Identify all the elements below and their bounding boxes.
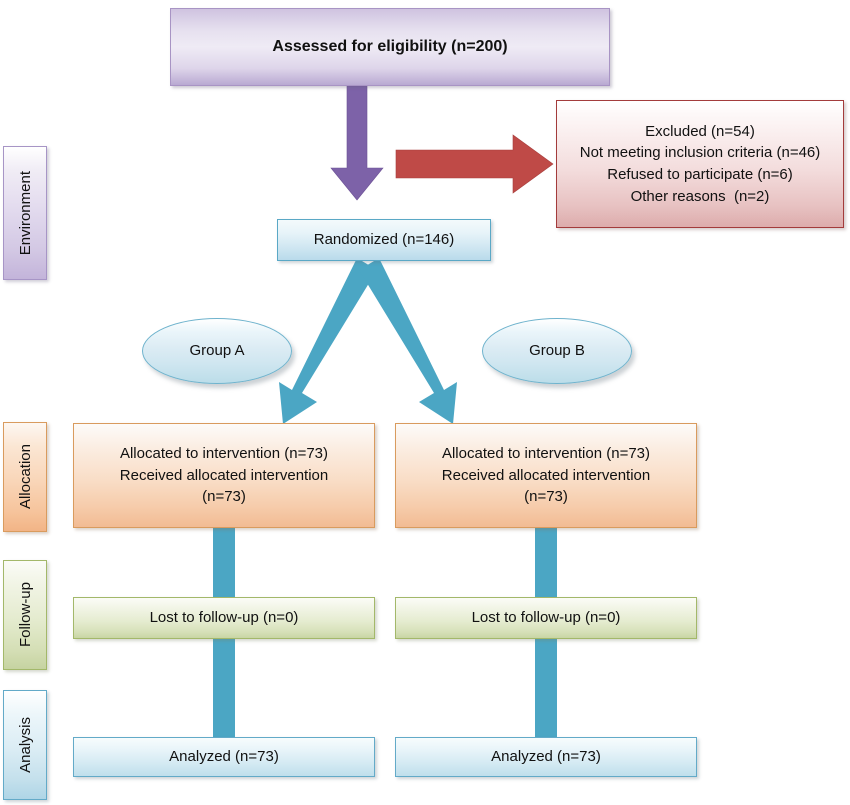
node-text-line: (n=73) (402, 486, 690, 508)
node-group-a-text: Group A (143, 340, 291, 362)
node-text-line: Lost to follow-up (n=0) (80, 607, 368, 629)
node-group-b-text: Group B (483, 340, 631, 362)
node-group-b: Group B (482, 318, 632, 384)
purple-down-arrow (331, 86, 383, 200)
node-assessed-for-eligibility-text: Assessed for eligibility (n=200) (171, 35, 609, 58)
stage-label-environment-text: Environment (17, 171, 34, 255)
node-text-line: Analyzed (n=73) (80, 746, 368, 768)
teal-branch-arrow-right (359, 258, 457, 424)
node-assessed-for-eligibility: Assessed for eligibility (n=200) (170, 8, 610, 86)
node-analysis-right-text: Analyzed (n=73) (396, 746, 696, 768)
node-text-line: Lost to follow-up (n=0) (402, 607, 690, 629)
node-allocation-right-text: Allocated to intervention (n=73)Received… (396, 443, 696, 508)
node-text-line: Assessed for eligibility (n=200) (177, 35, 603, 58)
node-allocation-left: Allocated to intervention (n=73)Received… (73, 423, 375, 528)
node-followup-left: Lost to follow-up (n=0) (73, 597, 375, 639)
node-analysis-right: Analyzed (n=73) (395, 737, 697, 777)
node-text-line: Other reasons (n=2) (563, 186, 837, 208)
node-excluded-text: Excluded (n=54)Not meeting inclusion cri… (557, 121, 843, 208)
node-group-a: Group A (142, 318, 292, 384)
teal-branch-arrow-left (279, 258, 377, 424)
node-excluded: Excluded (n=54)Not meeting inclusion cri… (556, 100, 844, 228)
node-randomized-text: Randomized (n=146) (278, 229, 490, 251)
stage-label-allocation: Allocation (3, 422, 47, 532)
red-right-arrow (396, 135, 553, 193)
node-analysis-left: Analyzed (n=73) (73, 737, 375, 777)
node-text-line: (n=73) (80, 486, 368, 508)
node-text-line: Received allocated intervention (402, 465, 690, 487)
node-text-line: Allocated to intervention (n=73) (80, 443, 368, 465)
node-analysis-left-text: Analyzed (n=73) (74, 746, 374, 768)
node-followup-right-text: Lost to follow-up (n=0) (396, 607, 696, 629)
node-text-line: Allocated to intervention (n=73) (402, 443, 690, 465)
node-allocation-right: Allocated to intervention (n=73)Received… (395, 423, 697, 528)
consort-flow-diagram: Environment Allocation Follow-up Analysi… (0, 0, 850, 805)
node-text-line: Refused to participate (n=6) (563, 164, 837, 186)
stage-label-analysis: Analysis (3, 690, 47, 800)
stage-label-followup-text: Follow-up (17, 582, 34, 647)
stage-label-followup: Follow-up (3, 560, 47, 670)
node-allocation-left-text: Allocated to intervention (n=73)Received… (74, 443, 374, 508)
node-text-line: Analyzed (n=73) (402, 746, 690, 768)
node-text-line: Group B (489, 340, 625, 362)
node-followup-left-text: Lost to follow-up (n=0) (74, 607, 374, 629)
node-randomized: Randomized (n=146) (277, 219, 491, 261)
node-text-line: Group A (149, 340, 285, 362)
node-text-line: Received allocated intervention (80, 465, 368, 487)
node-text-line: Randomized (n=146) (284, 229, 484, 251)
node-text-line: Excluded (n=54) (563, 121, 837, 143)
stage-label-environment: Environment (3, 146, 47, 280)
stage-label-allocation-text: Allocation (17, 444, 34, 509)
node-text-line: Not meeting inclusion criteria (n=46) (563, 142, 837, 164)
node-followup-right: Lost to follow-up (n=0) (395, 597, 697, 639)
stage-label-analysis-text: Analysis (17, 717, 34, 773)
